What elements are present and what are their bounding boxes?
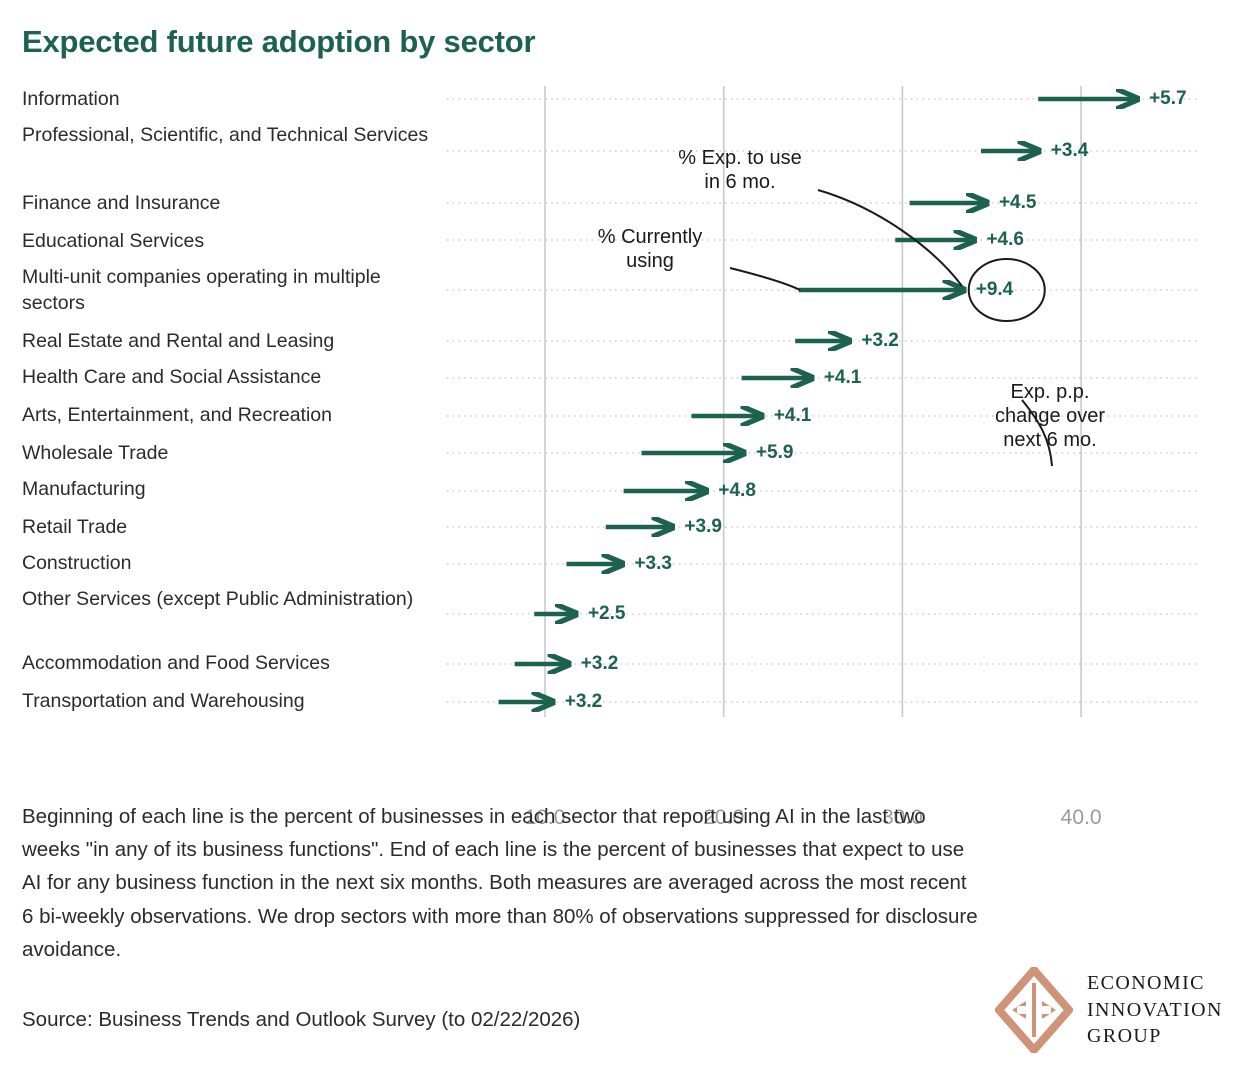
change-value-label: +5.7 (1149, 88, 1187, 110)
sector-label: Wholesale Trade (22, 441, 442, 467)
chart-plot-area: InformationProfessional, Scientific, and… (0, 80, 1240, 760)
change-value-label: +2.5 (588, 603, 626, 625)
sector-label: Professional, Scientific, and Technical … (22, 123, 442, 149)
change-value-label: +3.4 (1051, 140, 1089, 162)
x-tick-label: 40.0 (1061, 806, 1102, 830)
change-value-label: +3.9 (684, 516, 722, 538)
change-value-label: +3.2 (581, 653, 619, 675)
sector-label: Manufacturing (22, 477, 442, 503)
change-value-label: +3.2 (861, 330, 899, 352)
change-value-label: +5.9 (756, 442, 794, 464)
sector-label: Educational Services (22, 229, 442, 255)
annotation-exp-to-use: % Exp. to use in 6 mo. (640, 146, 840, 194)
change-value-label: +9.4 (976, 279, 1014, 301)
sector-label: Transportation and Warehousing (22, 689, 442, 715)
sector-label: Arts, Entertainment, and Recreation (22, 403, 442, 429)
sector-label: Construction (22, 551, 442, 577)
sector-label: Information (22, 87, 442, 113)
sector-label: Other Services (except Public Administra… (22, 587, 442, 613)
sector-label: Real Estate and Rental and Leasing (22, 329, 442, 355)
change-value-label: +4.5 (999, 192, 1037, 214)
sector-label: Retail Trade (22, 515, 442, 541)
change-value-label: +4.6 (986, 229, 1024, 251)
sector-label: Multi-unit companies operating in multip… (22, 265, 442, 317)
sector-label: Health Care and Social Assistance (22, 365, 442, 391)
sector-label: Finance and Insurance (22, 191, 442, 217)
annotation-leader-line (730, 268, 800, 290)
change-value-label: +3.3 (634, 553, 672, 575)
sector-label: Accommodation and Food Services (22, 651, 442, 677)
annotation-currently-using: % Currently using (560, 225, 740, 273)
source-text: Source: Business Trends and Outlook Surv… (22, 1008, 580, 1032)
eig-diamond-icon (995, 967, 1073, 1053)
annotation-pp-change: Exp. p.p. change over next 6 mo. (945, 380, 1155, 452)
change-value-label: +4.1 (774, 405, 812, 427)
change-value-label: +4.1 (824, 367, 862, 389)
eig-logo: ECONOMIC INNOVATION GROUP (995, 965, 1225, 1055)
logo-wordmark: ECONOMIC INNOVATION GROUP (1087, 970, 1223, 1050)
change-value-label: +3.2 (565, 691, 603, 713)
footnote-text: Beginning of each line is the percent of… (22, 800, 982, 966)
page-title: Expected future adoption by sector (22, 24, 535, 60)
change-value-label: +4.8 (718, 480, 756, 502)
